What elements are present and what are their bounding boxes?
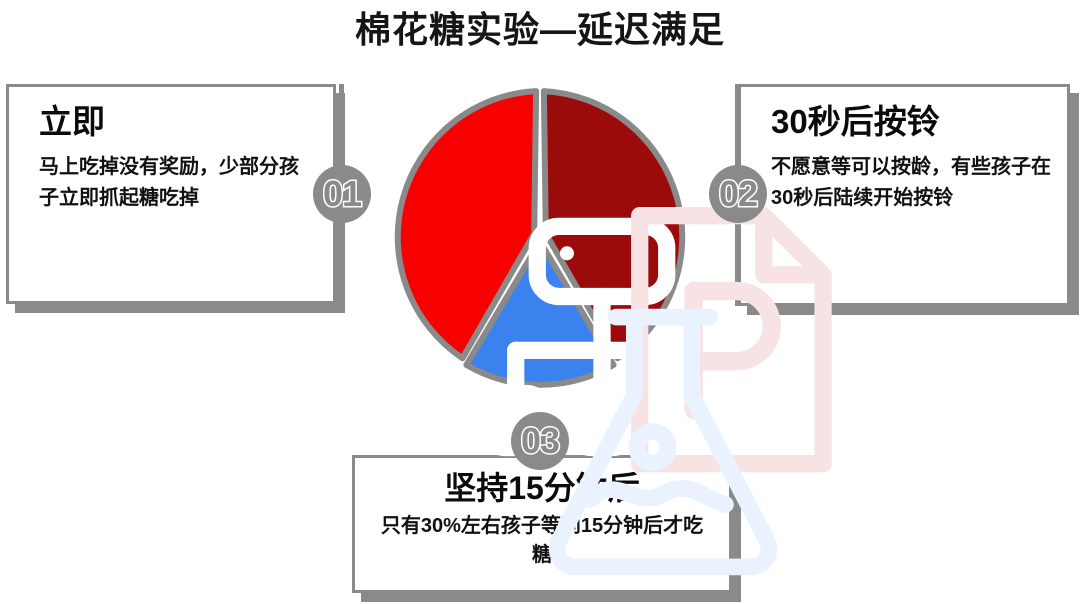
step-badge-label: 03 — [521, 423, 559, 459]
card-immediate[interactable]: 立即 马上吃掉没有奖励，少部分孩子立即抓起糖吃掉 — [6, 84, 336, 304]
card-title: 30秒后按铃 — [771, 101, 1051, 142]
step-badge-03: 03 — [511, 412, 569, 470]
step-badge-label: 02 — [719, 176, 757, 212]
step-badge-02: 02 — [709, 165, 767, 223]
card-body: 马上吃掉没有奖励，少部分孩子立即抓起糖吃掉 — [39, 152, 311, 214]
card-title: 立即 — [39, 101, 311, 142]
infographic-canvas: 棉花糖实验—延迟满足 立即 马上吃掉没有奖励，少部分孩子立即抓起糖吃掉 30秒后… — [0, 0, 1080, 604]
step-badge-label: 01 — [323, 176, 361, 212]
pie-chart — [389, 86, 691, 388]
step-badge-01: 01 — [313, 165, 371, 223]
page-title: 棉花糖实验—延迟满足 — [0, 8, 1080, 51]
card-surface: 立即 马上吃掉没有奖励，少部分孩子立即抓起糖吃掉 — [6, 84, 336, 304]
